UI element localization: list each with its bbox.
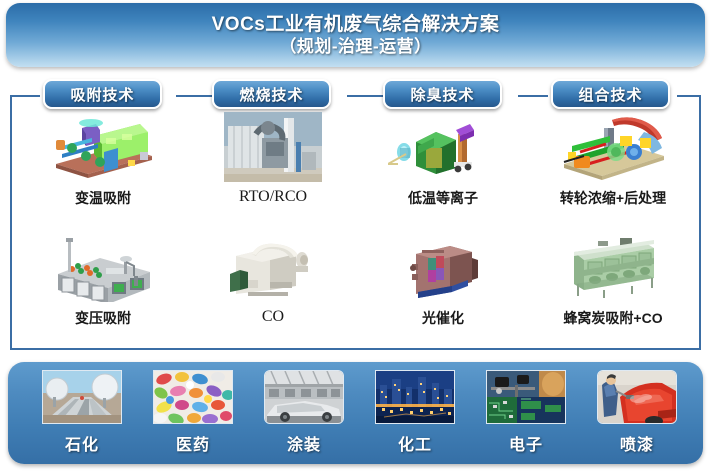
honeycomb-carbon-adsorber-render xyxy=(558,232,668,302)
rotor-concentrator-3d-render xyxy=(558,112,668,182)
catalytic-oxidizer-photo xyxy=(218,232,328,302)
page-title: VOCs工业有机废气综合解决方案 xyxy=(212,13,500,37)
industry-item-spray-painting[interactable]: 喷漆 xyxy=(585,370,689,458)
technology-caption: 光催化 xyxy=(422,308,464,328)
technology-caption: RTO/RCO xyxy=(239,188,307,206)
photocatalysis-box-3d-render xyxy=(388,232,498,302)
industry-item-electronics[interactable]: 电子 xyxy=(474,370,578,458)
psa-skid-3d-render xyxy=(48,232,158,302)
technology-cell-co[interactable]: CO xyxy=(188,232,358,326)
industry-label: 电子 xyxy=(509,431,543,455)
industry-item-petrochemical[interactable]: 石化 xyxy=(30,370,134,458)
page-subtitle: （规划-治理-运营） xyxy=(279,36,431,57)
industry-label: 喷漆 xyxy=(620,431,654,455)
car-spray-painting-photo xyxy=(597,370,677,424)
technology-caption: 蜂窝炭吸附+CO xyxy=(563,308,662,328)
category-badge-combined[interactable]: 组合技术 xyxy=(551,79,670,109)
category-badge-deodorization[interactable]: 除臭技术 xyxy=(383,79,502,109)
industry-item-pharmaceutical[interactable]: 医药 xyxy=(141,370,245,458)
petrochemical-tanks-photo xyxy=(42,370,122,424)
technology-cell-honeycomb[interactable]: 蜂窝炭吸附+CO xyxy=(528,232,698,328)
technology-caption: 转轮浓缩+后处理 xyxy=(560,188,666,208)
technology-cell-tsa[interactable]: 变温吸附 xyxy=(18,112,188,208)
electronics-pcb-photo xyxy=(486,370,566,424)
category-label: 组合技术 xyxy=(578,84,642,105)
industry-label: 涂装 xyxy=(287,431,321,455)
technology-cell-rto-rco[interactable]: RTO/RCO xyxy=(188,112,358,206)
industry-label: 石化 xyxy=(65,431,99,455)
technology-cell-psa[interactable]: 变压吸附 xyxy=(18,232,188,328)
plasma-unit-3d-render xyxy=(388,112,498,182)
technology-cell-plasma[interactable]: 低温等离子 xyxy=(358,112,528,208)
industry-label: 医药 xyxy=(176,431,210,455)
pharmaceutical-pills-photo xyxy=(153,370,233,424)
category-label: 燃烧技术 xyxy=(239,84,303,105)
technology-caption: 变压吸附 xyxy=(75,308,131,328)
page-title-banner: VOCs工业有机废气综合解决方案 （规划-治理-运营） xyxy=(6,3,705,67)
rto-incinerator-photo xyxy=(218,112,328,182)
industry-item-coating[interactable]: 涂装 xyxy=(252,370,356,458)
category-label: 除臭技术 xyxy=(410,84,474,105)
technology-cell-rotor[interactable]: 转轮浓缩+后处理 xyxy=(528,112,698,208)
technology-caption: CO xyxy=(262,308,284,326)
category-badge-adsorption[interactable]: 吸附技术 xyxy=(43,79,162,109)
industry-application-bar: 石化 xyxy=(8,362,703,464)
chemical-plant-night-photo xyxy=(375,370,455,424)
technology-caption: 变温吸附 xyxy=(75,188,131,208)
category-badge-combustion[interactable]: 燃烧技术 xyxy=(212,79,331,109)
tsa-skid-3d-render xyxy=(48,112,158,182)
industry-item-chemical[interactable]: 化工 xyxy=(363,370,467,458)
technology-cell-photocatalysis[interactable]: 光催化 xyxy=(358,232,528,328)
industry-label: 化工 xyxy=(398,431,432,455)
category-label: 吸附技术 xyxy=(70,84,134,105)
automotive-coating-line-photo xyxy=(264,370,344,424)
category-badge-row: 吸附技术 燃烧技术 除臭技术 组合技术 xyxy=(0,79,711,111)
technology-caption: 低温等离子 xyxy=(408,188,478,208)
